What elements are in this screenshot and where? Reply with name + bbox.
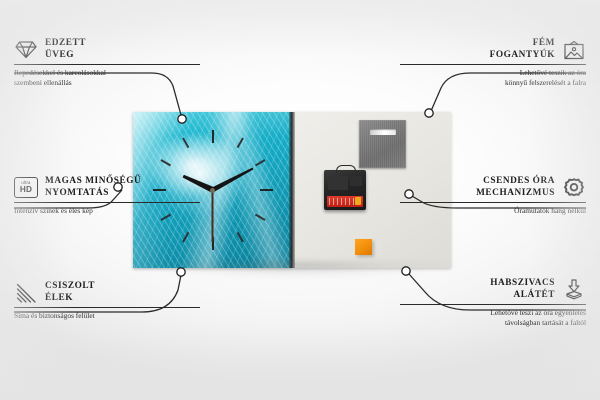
callout-title: HABSZIVACS ALÁTÉT xyxy=(490,278,555,301)
callout-description: Óramutatók hang nélkül xyxy=(400,206,586,216)
hour-marker-3 xyxy=(213,189,273,191)
callout-divider xyxy=(14,307,200,308)
callout-header: CSENDES ÓRA MECHANIZMUS xyxy=(400,176,586,199)
callout-title: FÉM FOGANTYÚK xyxy=(490,38,555,61)
callout-magas-minosegu-nyomtatas: ultra HD MAGAS MINŐSÉGŰ NYOMTATÁS Intenz… xyxy=(14,176,200,216)
callout-title: EDZETT ÜVEG xyxy=(45,38,86,61)
second-hand xyxy=(212,190,214,242)
callout-description: Lehetővé teszi az óra egyenletes távolsá… xyxy=(400,308,586,327)
callout-title: CSISZOLT ÉLEK xyxy=(45,281,95,304)
callout-description: Intenzív színek és éles kép xyxy=(14,206,200,216)
callout-header: ultra HD MAGAS MINŐSÉGŰ NYOMTATÁS xyxy=(14,176,200,199)
clock-mechanism xyxy=(324,170,366,210)
callout-header: FÉM FOGANTYÚK xyxy=(400,38,586,61)
metal-hanger-plate xyxy=(359,120,406,168)
foam-pad-icon xyxy=(562,279,586,301)
callout-title: MAGAS MINŐSÉGŰ NYOMTATÁS xyxy=(45,176,141,199)
mechanism-hook xyxy=(336,165,356,173)
polished-edge-icon xyxy=(14,282,38,304)
callout-divider xyxy=(400,202,586,203)
callout-csendes-ora-mechanizmus: CSENDES ÓRA MECHANIZMUS Óramutatók hang … xyxy=(400,176,586,216)
callout-header: EDZETT ÜVEG xyxy=(14,38,200,61)
callout-header: CSISZOLT ÉLEK xyxy=(14,281,200,304)
callout-header: HABSZIVACS ALÁTÉT xyxy=(400,278,586,301)
diamond-icon xyxy=(14,39,38,61)
mechanism-panel-left xyxy=(328,176,348,190)
callout-divider xyxy=(400,304,586,305)
callout-description: Repedésekkel és karcolásokkal szembeni e… xyxy=(14,68,200,87)
hour-marker-12 xyxy=(212,130,214,190)
clock-center-cap xyxy=(210,188,215,193)
foam-pad xyxy=(355,239,372,255)
battery-compartment xyxy=(327,196,363,207)
callout-title: CSENDES ÓRA MECHANIZMUS xyxy=(476,176,555,199)
callout-csiszolt-elek: CSISZOLT ÉLEK Sima és biztonságos felüle… xyxy=(14,281,200,321)
callout-description: Sima és biztonságos felület xyxy=(14,311,200,321)
callout-habszivacs-alatet: HABSZIVACS ALÁTÉT Lehetővé teszi az óra … xyxy=(400,278,586,327)
clock-left-edge xyxy=(292,112,295,268)
hanger-slot xyxy=(370,129,396,135)
callout-edzett-uveg: EDZETT ÜVEG Repedésekkel és karcolásokka… xyxy=(14,38,200,87)
mechanism-panel-right xyxy=(350,176,362,186)
callout-divider xyxy=(14,202,200,203)
gear-icon xyxy=(562,177,586,199)
callout-fem-fogantyuk: FÉM FOGANTYÚK Lehetővé teszik az óra kön… xyxy=(400,38,586,87)
callout-divider xyxy=(14,64,200,65)
callout-divider xyxy=(400,64,586,65)
callout-description: Lehetővé teszik az óra könnyű felszerelé… xyxy=(400,68,586,87)
ultra-hd-icon: ultra HD xyxy=(14,177,38,199)
ultra-hd-icon-main-label: HD xyxy=(20,186,32,194)
infographic-canvas: EDZETT ÜVEG Repedésekkel és karcolásokka… xyxy=(0,0,600,400)
wall-hanger-icon xyxy=(562,39,586,61)
